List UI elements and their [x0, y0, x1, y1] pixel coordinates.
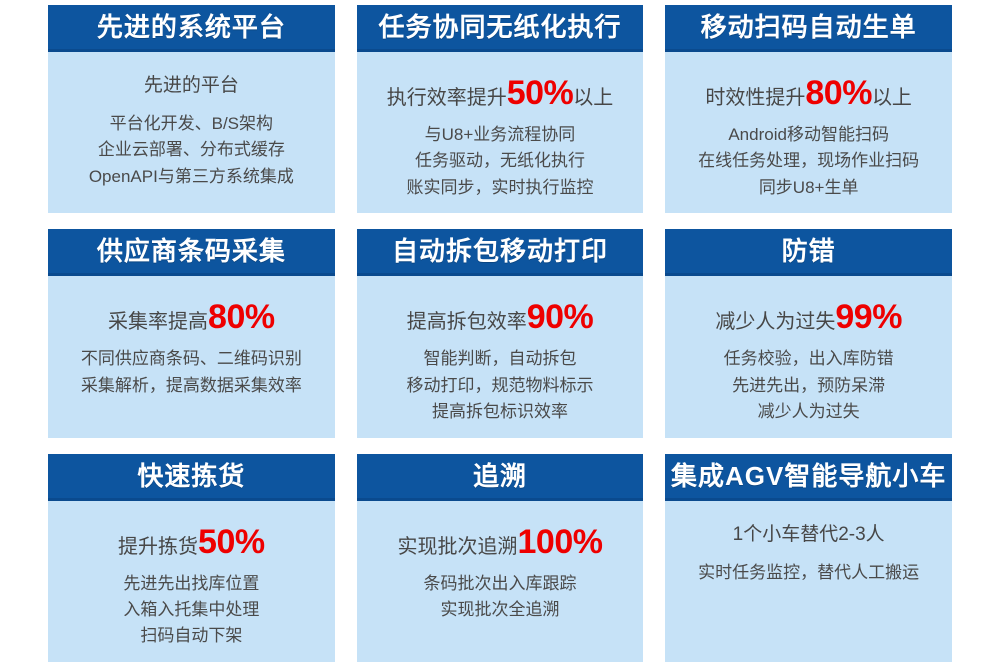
headline-suffix-text: 以上	[573, 87, 613, 109]
feature-card-title: 集成AGV智能导航小车	[671, 463, 946, 489]
headline-prefix-text: 执行效率提升	[387, 87, 507, 109]
headline-suffix-text: 以上	[872, 87, 912, 109]
feature-card-body: 时效性提升 80% 以上 Android移动智能扫码在线任务处理，现场作业扫码同…	[665, 52, 952, 213]
detail-line: 不同供应商条码、二维码识别	[81, 346, 302, 372]
feature-card-body: 提高拆包效率 90% 智能判断，自动拆包移动打印，规范物料标示提高拆包标识效率	[357, 276, 644, 437]
headline-prefix-text: 时效性提升	[705, 87, 805, 109]
feature-card-3[interactable]: 移动扫码自动生单 时效性提升 80% 以上 Android移动智能扫码在线任务处…	[665, 5, 952, 213]
feature-card-5[interactable]: 自动拆包移动打印 提高拆包效率 90% 智能判断，自动拆包移动打印，规范物料标示…	[357, 229, 644, 437]
headline-prefix-text: 采集率提高	[108, 311, 208, 333]
feature-card-header: 集成AGV智能导航小车	[665, 454, 952, 501]
detail-line: 移动打印，规范物料标示	[406, 373, 593, 399]
feature-card-body: 减少人为过失 99% 任务校验，出入库防错先进先出，预防呆滞减少人为过失	[665, 276, 952, 437]
feature-card-header: 任务协同无纸化执行	[357, 5, 644, 52]
detail-line: 实时任务监控，替代人工搬运	[698, 560, 919, 586]
feature-card-headline: 提升拣货 50%	[118, 525, 265, 559]
feature-card-detail-lines: 任务校验，出入库防错先进先出，预防呆滞减少人为过失	[724, 346, 894, 425]
detail-line: 任务驱动，无纸化执行	[406, 148, 593, 174]
detail-line: 提高拆包标识效率	[406, 399, 593, 425]
detail-line: 同步U8+生单	[698, 175, 919, 201]
detail-line: 减少人为过失	[724, 399, 894, 425]
detail-line: 先进先出，预防呆滞	[724, 373, 894, 399]
feature-card-detail-lines: 实时任务监控，替代人工搬运	[698, 560, 919, 586]
headline-metric-value: 100%	[518, 525, 603, 559]
detail-line: 实现批次全追溯	[423, 597, 576, 623]
feature-card-detail-lines: 不同供应商条码、二维码识别采集解析，提高数据采集效率	[81, 346, 302, 399]
feature-card-headline: 提高拆包效率 90%	[407, 300, 594, 334]
feature-card-4[interactable]: 供应商条码采集 采集率提高 80% 不同供应商条码、二维码识别采集解析，提高数据…	[48, 229, 335, 437]
headline-metric-value: 50%	[198, 525, 265, 559]
headline-metric-value: 80%	[805, 76, 872, 110]
feature-card-body: 先进的平台 平台化开发、B/S架构企业云部署、分布式缓存OpenAPI与第三方系…	[48, 52, 335, 213]
detail-line: 入箱入托集中处理	[123, 597, 259, 623]
feature-card-title: 快速拣货	[137, 463, 245, 489]
feature-card-headline: 减少人为过失 99%	[715, 300, 902, 334]
headline-prefix-text: 减少人为过失	[715, 311, 835, 333]
feature-card-body: 采集率提高 80% 不同供应商条码、二维码识别采集解析，提高数据采集效率	[48, 276, 335, 437]
detail-line: 在线任务处理，现场作业扫码	[698, 148, 919, 174]
feature-card-body: 实现批次追溯 100% 条码批次出入库跟踪实现批次全追溯	[357, 501, 644, 662]
feature-card-2[interactable]: 任务协同无纸化执行 执行效率提升 50% 以上 与U8+业务流程协同任务驱动，无…	[357, 5, 644, 213]
feature-card-9[interactable]: 集成AGV智能导航小车 1个小车替代2-3人 实时任务监控，替代人工搬运	[665, 454, 952, 662]
feature-card-body: 执行效率提升 50% 以上 与U8+业务流程协同任务驱动，无纸化执行账实同步，实…	[357, 52, 644, 213]
feature-card-grid: 先进的系统平台 先进的平台 平台化开发、B/S架构企业云部署、分布式缓存Open…	[0, 0, 1000, 668]
feature-card-title: 任务协同无纸化执行	[378, 14, 621, 40]
feature-card-body: 1个小车替代2-3人 实时任务监控，替代人工搬运	[665, 501, 952, 662]
detail-line: 账实同步，实时执行监控	[406, 175, 593, 201]
detail-line: 先进先出找库位置	[123, 571, 259, 597]
feature-card-header: 移动扫码自动生单	[665, 5, 952, 52]
feature-card-headline: 时效性提升 80% 以上	[705, 76, 912, 110]
feature-card-detail-lines: 条码批次出入库跟踪实现批次全追溯	[423, 571, 576, 624]
feature-card-headline: 实现批次追溯 100%	[398, 525, 603, 559]
feature-card-8[interactable]: 追溯 实现批次追溯 100% 条码批次出入库跟踪实现批次全追溯	[357, 454, 644, 662]
feature-card-header: 先进的系统平台	[48, 5, 335, 52]
feature-card-header: 追溯	[357, 454, 644, 501]
feature-card-detail-lines: 与U8+业务流程协同任务驱动，无纸化执行账实同步，实时执行监控	[406, 122, 593, 201]
feature-card-body: 提升拣货 50% 先进先出找库位置入箱入托集中处理扫码自动下架	[48, 501, 335, 662]
feature-card-detail-lines: 智能判断，自动拆包移动打印，规范物料标示提高拆包标识效率	[406, 346, 593, 425]
headline-metric-value: 99%	[835, 300, 902, 334]
feature-card-header: 供应商条码采集	[48, 229, 335, 276]
detail-line: OpenAPI与第三方系统集成	[89, 164, 294, 190]
feature-card-title: 追溯	[473, 463, 527, 489]
feature-card-headline: 执行效率提升 50% 以上	[387, 76, 614, 110]
detail-line: 条码批次出入库跟踪	[423, 571, 576, 597]
detail-line: 扫码自动下架	[123, 623, 259, 649]
headline-metric-value: 80%	[208, 300, 275, 334]
feature-card-7[interactable]: 快速拣货 提升拣货 50% 先进先出找库位置入箱入托集中处理扫码自动下架	[48, 454, 335, 662]
feature-card-title: 先进的系统平台	[97, 14, 286, 40]
feature-card-title: 供应商条码采集	[97, 238, 286, 264]
feature-card-detail-lines: 平台化开发、B/S架构企业云部署、分布式缓存OpenAPI与第三方系统集成	[89, 111, 294, 190]
feature-card-detail-lines: Android移动智能扫码在线任务处理，现场作业扫码同步U8+生单	[698, 122, 919, 201]
detail-line: 企业云部署、分布式缓存	[89, 137, 294, 163]
feature-card-title: 移动扫码自动生单	[701, 14, 917, 40]
feature-card-headline: 采集率提高 80%	[108, 300, 275, 334]
headline-prefix-text: 提升拣货	[118, 536, 198, 558]
detail-line: 智能判断，自动拆包	[406, 346, 593, 372]
feature-card-headline: 先进的平台	[144, 76, 239, 97]
feature-card-1[interactable]: 先进的系统平台 先进的平台 平台化开发、B/S架构企业云部署、分布式缓存Open…	[48, 5, 335, 213]
headline-prefix-text: 实现批次追溯	[398, 536, 518, 558]
feature-card-title: 防错	[782, 238, 836, 264]
feature-card-header: 自动拆包移动打印	[357, 229, 644, 276]
feature-card-title: 自动拆包移动打印	[392, 238, 608, 264]
detail-line: 采集解析，提高数据采集效率	[81, 373, 302, 399]
feature-card-header: 快速拣货	[48, 454, 335, 501]
detail-line: 平台化开发、B/S架构	[89, 111, 294, 137]
detail-line: Android移动智能扫码	[698, 122, 919, 148]
headline-prefix-text: 先进的平台	[144, 76, 239, 97]
headline-prefix-text: 1个小车替代2-3人	[733, 525, 885, 546]
headline-metric-value: 90%	[527, 300, 594, 334]
headline-prefix-text: 提高拆包效率	[407, 311, 527, 333]
detail-line: 任务校验，出入库防错	[724, 346, 894, 372]
feature-card-headline: 1个小车替代2-3人	[733, 525, 885, 546]
detail-line: 与U8+业务流程协同	[406, 122, 593, 148]
feature-card-6[interactable]: 防错 减少人为过失 99% 任务校验，出入库防错先进先出，预防呆滞减少人为过失	[665, 229, 952, 437]
feature-card-detail-lines: 先进先出找库位置入箱入托集中处理扫码自动下架	[123, 571, 259, 650]
headline-metric-value: 50%	[507, 76, 574, 110]
feature-card-header: 防错	[665, 229, 952, 276]
